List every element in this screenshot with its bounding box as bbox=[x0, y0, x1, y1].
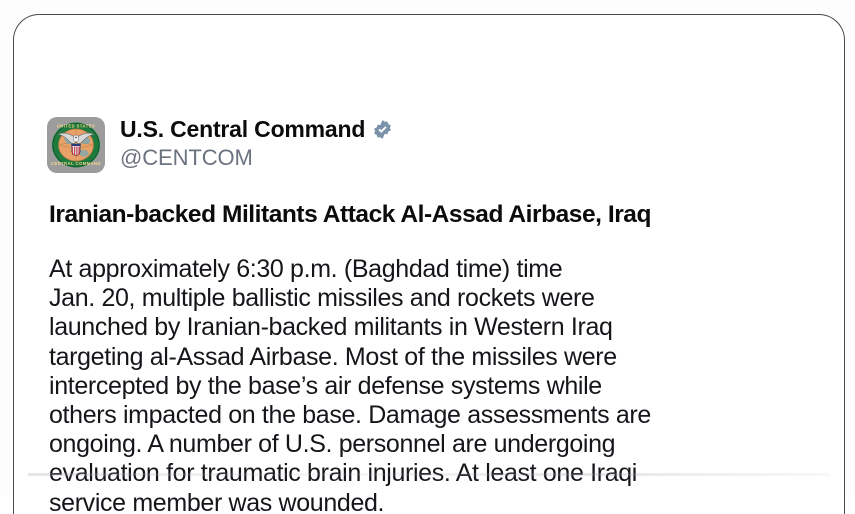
account-header[interactable]: UNITED STATES CENTRAL COMMAND U.S. Centr… bbox=[47, 117, 393, 173]
tweet-body-line: evaluation for traumatic brain injuries.… bbox=[49, 459, 845, 488]
centcom-seal-icon: UNITED STATES CENTRAL COMMAND bbox=[51, 121, 101, 169]
screenshot-stage: UNITED STATES CENTRAL COMMAND U.S. Centr… bbox=[0, 0, 855, 495]
verified-badge-icon[interactable] bbox=[372, 119, 393, 140]
display-name-line: U.S. Central Command bbox=[120, 118, 393, 141]
tweet-body-line: Jan. 20, multiple ballistic missiles and… bbox=[49, 284, 845, 313]
tweet-body: At approximately 6:30 p.m. (Baghdad time… bbox=[49, 255, 845, 514]
tweet-card: UNITED STATES CENTRAL COMMAND U.S. Centr… bbox=[13, 14, 845, 514]
tweet-body-line: ongoing. A number of U.S. personnel are … bbox=[49, 430, 845, 459]
tweet-body-line: targeting al-Assad Airbase. Most of the … bbox=[49, 343, 845, 372]
avatar[interactable]: UNITED STATES CENTRAL COMMAND bbox=[47, 117, 105, 173]
tweet-body-line: service member was wounded. bbox=[49, 489, 845, 514]
tweet-body-line: others impacted on the base. Damage asse… bbox=[49, 401, 845, 430]
tweet-headline: Iranian-backed Militants Attack Al-Assad… bbox=[49, 201, 839, 229]
account-identity: U.S. Central Command @CENTCOM bbox=[120, 117, 393, 170]
display-name[interactable]: U.S. Central Command bbox=[120, 118, 365, 141]
svg-text:UNITED STATES: UNITED STATES bbox=[57, 124, 95, 129]
tweet-body-line: launched by Iranian-backed militants in … bbox=[49, 313, 845, 342]
account-handle[interactable]: @CENTCOM bbox=[120, 146, 393, 170]
svg-text:CENTRAL COMMAND: CENTRAL COMMAND bbox=[51, 161, 101, 166]
tweet-body-line: At approximately 6:30 p.m. (Baghdad time… bbox=[49, 255, 845, 284]
tweet-body-line: intercepted by the base’s air defense sy… bbox=[49, 372, 845, 401]
